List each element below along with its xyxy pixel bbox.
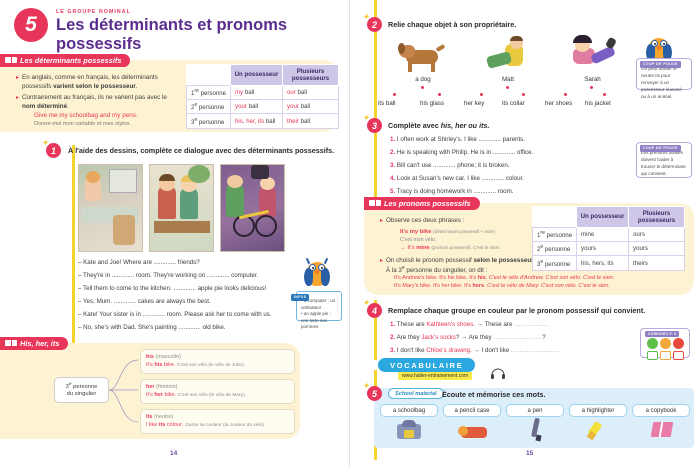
- match-dot-owner: [590, 86, 593, 89]
- cell-singular: my ball: [231, 85, 283, 99]
- exercise-5-number: ✦ 5: [367, 386, 382, 401]
- sparkle-icon: ✦: [42, 139, 48, 147]
- tip-text: On peut utiliser le neutre its pour renv…: [641, 66, 682, 99]
- exercise-4-number: ✦ 4: [367, 303, 382, 318]
- exercise-3-item: 5. Tracy is doing homework in ..........…: [390, 188, 513, 195]
- page-number-right: 15: [526, 450, 533, 457]
- table-header-row: Un possesseur Plusieurs possesseurs: [533, 207, 685, 228]
- vocabulaire-pill: VOCABULAIRE: [378, 358, 475, 372]
- table-row: 1re personne mine ours: [533, 227, 685, 241]
- cell-plural: your ball: [283, 100, 339, 114]
- infos-line: • an apple pie : une tarte aux pommes: [301, 311, 338, 331]
- smiley-happy-icon[interactable]: [647, 338, 658, 349]
- match-dot-object: [438, 93, 441, 96]
- col-header-singular: Un possesseur: [577, 207, 629, 228]
- copybook-icon: [650, 420, 674, 440]
- self-assessment-box[interactable]: CORRIGÉS P. 6: [640, 328, 690, 358]
- exercise-4-item: 2. Are they Jack's socks? → Are they ...…: [390, 334, 546, 341]
- pronouns-table: Un possesseur Plusieurs possesseurs 1re …: [532, 206, 685, 271]
- infos-caption: INFOS: [291, 294, 309, 301]
- exercise-4-title: Remplace chaque groupe en couleur par le…: [388, 306, 645, 315]
- page-title: Les déterminants et pronoms possessifs: [56, 16, 336, 55]
- exercise-3-item: 2. He is speaking with Philip. He is in …: [390, 149, 533, 156]
- exercise-1-title: À l'aide des dessins, complète ce dialog…: [68, 146, 338, 155]
- sparkle-icon: ✦: [363, 382, 369, 390]
- dialogue-line: – Yes, Mum. ............. cakes are alwa…: [78, 298, 211, 305]
- map-example-en-his: It's his bike.: [146, 362, 176, 368]
- chapter-number: 5: [14, 8, 48, 42]
- lesson-pronoms-tag: Les pronoms possessifs: [364, 197, 480, 210]
- cell-plural: ours: [629, 227, 685, 241]
- map-leaf-its: its (neutre) I like its colour. J'aime s…: [140, 409, 295, 434]
- dialogue-line: – No, she's with Dad. She's painting ...…: [78, 324, 226, 331]
- map-word-its: its: [146, 414, 152, 420]
- lesson3-bullet-2-sub: À la 3e personne du singulier, on dit :: [386, 265, 487, 274]
- row-label: 2e personne: [187, 100, 231, 114]
- map-root-label: 3e personnedu singulier: [66, 382, 98, 399]
- exercise-5-title: Écoute et mémorise ces mots.: [442, 390, 545, 399]
- chapter-kicker: LE GROUPE NOMINAL: [56, 9, 131, 15]
- map-connector-lines: [106, 352, 142, 440]
- row-label: 3e personne: [187, 114, 231, 128]
- owl-mascot-icon: [300, 256, 334, 292]
- determinants-table: Un possesseur Plusieurs possesseurs 1re …: [186, 64, 339, 129]
- book-icon: [5, 57, 17, 63]
- match-dot-object: [522, 93, 525, 96]
- cell-singular: mine: [577, 227, 629, 241]
- book-icon: [369, 200, 381, 206]
- tip-caption: COUP DE POUCE: [640, 145, 681, 152]
- map-leaf-his: his (masculin) It's his bike. C'est son …: [140, 349, 295, 374]
- map-example-fr-his: C'est son vélo (le vélo de John).: [177, 363, 245, 368]
- match-dot-object: [564, 93, 567, 96]
- word-card: a pen: [506, 404, 564, 417]
- illustration-matt: [483, 36, 533, 74]
- tip-box-its: COUP DE POUCE On peut utiliser le neutre…: [636, 58, 692, 90]
- table-row: 2e personne yours yours: [533, 242, 685, 256]
- lesson3-example-2: → It's mine (pronom possessif). C'est le…: [400, 245, 501, 251]
- lesson3-example-1-fr: C'est mon vélo.: [400, 237, 436, 243]
- cell-singular: his, hers, its: [577, 256, 629, 270]
- exercise-3-title: Complète avec his, her ou its.: [388, 121, 489, 130]
- checkbox-happy[interactable]: [647, 351, 658, 360]
- owner-label-sarah: Sarah: [565, 76, 620, 83]
- exercise-2-title: Relie chaque objet à son propriétaire.: [388, 20, 516, 29]
- tip-caption: COUP DE POUCE: [640, 61, 681, 68]
- book-icon: [5, 340, 17, 346]
- map-example-fr-its: J'aime sa couleur (la couleur du vélo).: [185, 423, 266, 428]
- checkbox-neutral[interactable]: [660, 351, 671, 360]
- map-example-fr-her: C'est son vélo (le vélo de Mary).: [178, 393, 246, 398]
- lesson1-bullet-2: ▸ Contrairement au français, ils ne vari…: [22, 94, 172, 112]
- exercise-rail-left: [72, 145, 75, 345]
- right-page: ✦ 2 Relie chaque objet à son propriétair…: [350, 0, 700, 467]
- illustration-sarah: [565, 34, 620, 74]
- highlighter-icon: [586, 420, 612, 442]
- match-dot-owner: [421, 86, 424, 89]
- vocabulaire-url[interactable]: www.hatier-entrainement.com: [398, 372, 472, 380]
- match-dot-object: [393, 93, 396, 96]
- cell-singular: his, her, its ball: [231, 114, 283, 128]
- col-header-singular: Un possesseur: [231, 65, 283, 86]
- bullet-arrow-icon: ▸: [16, 94, 19, 103]
- dialogue-line: – Tell them to come to the kitchen. ....…: [78, 285, 266, 292]
- pen-icon: [526, 418, 546, 442]
- dialogue-line: – Kate! Your sister is in ............. …: [78, 311, 272, 318]
- row-label: 2e personne: [533, 242, 577, 256]
- sparkle-icon: ✦: [363, 299, 369, 307]
- tip-text: Les prénoms utilisés doivent t'aider à t…: [641, 150, 686, 176]
- word-card: a copybook: [632, 404, 690, 417]
- table-row: 3e personne his, hers, its theirs: [533, 256, 685, 270]
- comic-panel-kitchen: [78, 164, 143, 252]
- word-card: a pencil case: [443, 404, 501, 417]
- exercise-2-number: ✦ 2: [367, 17, 382, 32]
- object-label-his-glass: his glass: [420, 100, 444, 107]
- match-dot-owner: [506, 86, 509, 89]
- object-label-her-shoes: her shoes: [545, 100, 572, 107]
- headphones-icon: [490, 366, 506, 380]
- checkbox-sad[interactable]: [673, 351, 684, 360]
- dialogue-line: – Kate and Joe! Where are ............. …: [78, 259, 200, 266]
- left-page: 5 LE GROUPE NOMINAL Les déterminants et …: [0, 0, 350, 467]
- smiley-sad-icon[interactable]: [673, 338, 684, 349]
- comic-panel-computer: [149, 164, 214, 252]
- match-dot-object: [603, 93, 606, 96]
- tip-box-names: COUP DE POUCE Les prénoms utilisés doive…: [636, 142, 692, 178]
- map-word-her: her: [146, 384, 155, 390]
- object-label-his-jacket: his jacket: [585, 100, 611, 107]
- illustration-dog: [398, 36, 448, 74]
- map-leaf-her: her (féminin) It's her bike. C'est son v…: [140, 379, 295, 404]
- map-word-his: his: [146, 354, 154, 360]
- table-row: 1re personne my ball our ball: [187, 85, 339, 99]
- col-header-plural: Plusieurs possesseurs: [283, 65, 339, 86]
- owner-label-matt: Matt: [483, 76, 533, 83]
- exercise-4-item: 3. I don't like Chloe's drawing. → I don…: [390, 347, 560, 354]
- lesson3-example-4: It's Mary's bike. It's her bike. It's he…: [394, 283, 610, 289]
- infos-box: INFOS • a computer : un ordinateur • an …: [296, 291, 342, 321]
- word-card: a schoolbag: [380, 404, 438, 417]
- cell-singular: your ball: [231, 100, 283, 114]
- cell-singular: yours: [577, 242, 629, 256]
- map-gender-her: (féminin): [156, 384, 177, 390]
- row-label: 3e personne: [533, 256, 577, 270]
- row-label: 1re personne: [187, 85, 231, 99]
- school-material-tag: School material: [388, 388, 444, 399]
- cell-plural: yours: [629, 242, 685, 256]
- map-gender-his: (masculin): [155, 354, 180, 360]
- bullet-arrow-icon: ▸: [380, 257, 383, 266]
- exercise-3-item: 3. Bill can't use ............. phone; i…: [390, 162, 510, 169]
- lesson3-example-3: It's Andrew's bike. It's his bike. It's …: [394, 275, 614, 281]
- word-card: a highlighter: [569, 404, 627, 417]
- sparkle-icon: ✦: [363, 13, 369, 21]
- corriges-caption: CORRIGÉS P. 6: [645, 331, 679, 337]
- exercise-3-item: 4. Look at Susan's new car. I like .....…: [390, 175, 524, 182]
- map-root-node: 3e personnedu singulier: [54, 377, 109, 403]
- object-label-her-key: her key: [464, 100, 484, 107]
- lesson-determinants-tag: Les déterminants possessifs: [0, 54, 130, 67]
- bullet-arrow-icon: ▸: [380, 217, 383, 226]
- col-header-plural: Plusieurs possesseurs: [629, 207, 685, 228]
- exercise-1-number: ✦ 1: [46, 143, 61, 158]
- lesson1-bullet-1: ▸ En anglais, comme en français, les dét…: [22, 74, 172, 92]
- pencil-case-icon: [458, 422, 488, 440]
- exercise-3-item: 1. I often work at Shirley's. I like ...…: [390, 136, 525, 143]
- lesson-his-her-its-tag: His, her, its: [0, 337, 68, 350]
- exercise-4-item: 1. These are Kathleen's shoes. → These a…: [390, 321, 550, 328]
- match-dot-object: [480, 93, 483, 96]
- cell-plural: their ball: [283, 114, 339, 128]
- comic-panel-bike: [220, 164, 285, 252]
- map-example-en-its: I like its colour.: [146, 422, 183, 428]
- cell-plural: theirs: [629, 256, 685, 270]
- smiley-neutral-icon[interactable]: [660, 338, 671, 349]
- table-row: 2e personne your ball your ball: [187, 100, 339, 114]
- exercise-3-number: ✦ 3: [367, 118, 382, 133]
- lesson3-example-1: It's my bike (déterminant possessif + no…: [400, 229, 495, 235]
- cell-plural: our ball: [283, 85, 339, 99]
- bullet-arrow-icon: ▸: [16, 74, 19, 83]
- object-label-its-collar: its collar: [502, 100, 525, 107]
- schoolbag-icon: [396, 420, 422, 440]
- table-header-row: Un possesseur Plusieurs possesseurs: [187, 65, 339, 86]
- page-number-left: 14: [170, 450, 177, 457]
- dialogue-line: – They're in ............. room. They're…: [78, 272, 258, 279]
- table-row: 3e personne his, her, its ball their bal…: [187, 114, 339, 128]
- map-example-en-her: It's her bike.: [146, 392, 176, 398]
- owner-label-dog: a dog: [398, 76, 448, 83]
- row-label: 1re personne: [533, 227, 577, 241]
- object-label-its-ball: its ball: [378, 100, 396, 107]
- map-gender-its: (neutre): [154, 414, 173, 420]
- lesson1-example-fr: Donne-moi mon cartable et mes stylos.: [34, 121, 194, 129]
- sparkle-icon: ✦: [363, 114, 369, 122]
